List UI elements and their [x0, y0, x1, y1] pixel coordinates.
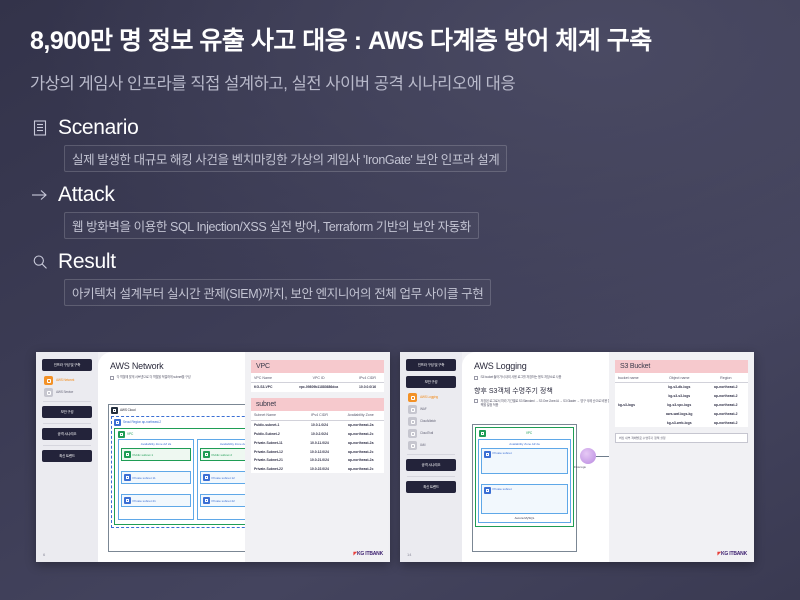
private-subnet: Private subnet 11	[121, 471, 191, 484]
section-result: Result 아키텍처 설계부터 실시간 관제(SIEM)까지, 보안 엔지니어…	[30, 250, 770, 306]
vpc-icon	[479, 430, 486, 437]
aws-cloud-icon	[111, 407, 118, 414]
section-attack-title: Attack	[58, 183, 115, 207]
slide-1-tables: VPC VPC Name VPC ID IPv4 CIDR KG-S3-VPC …	[245, 352, 390, 562]
table-row: Private-Subnet-22 10.0.22.0/24 ap-northe…	[251, 465, 384, 474]
flow-logs-icon	[580, 448, 596, 464]
sidebar-item-iam[interactable]: IAM	[408, 441, 456, 450]
sidebar-item-label: AWS Network	[56, 378, 74, 382]
section-list: Scenario 실제 발생한 대규모 해킹 사건을 벤치마킹한 가상의 게임사…	[0, 116, 800, 306]
private-subnet: Private subnet	[481, 484, 568, 514]
table-header-row: VPC Name VPC ID IPv4 CIDR	[251, 373, 384, 383]
section-attack: Attack 웹 방화벽을 이용한 SQL Injection/XSS 실전 방…	[30, 183, 770, 239]
table-row: kg-s3-logs kg-s3-vpc-logs ap-northeast-2	[615, 401, 748, 410]
arrow-right-icon	[30, 186, 49, 205]
table-row: kg-s3-s3-logs ap-northeast-2	[615, 392, 748, 401]
kg-itbank-logo: ◤KG ITBANK	[353, 551, 383, 557]
sidebar-item-cloudtrail[interactable]: CloudTrail	[408, 429, 456, 438]
bullet-icon	[474, 399, 478, 403]
table-row: KG-S3-VPC vpc-09809b11883686dca 10.0.0.0…	[251, 383, 384, 392]
vpc-icon	[118, 431, 125, 438]
flow-logs-label: Flow logs	[574, 465, 586, 469]
slide-thumbnail-aws-network[interactable]: 인프라 구성 및 구축 AWS Network AWS Service 보안 구…	[36, 352, 390, 562]
section-attack-header: Attack	[30, 183, 770, 207]
availability-zone-2a: Availability Zone AZ 2a Public subnet 1 …	[118, 439, 194, 520]
page-header: 8,900만 명 정보 유출 사고 대응 : AWS 다계층 방어 체계 구축 …	[0, 0, 800, 94]
subnet-icon	[203, 474, 210, 481]
logging-architecture-diagram: VPC Availability Zone AZ 2a Private subn…	[472, 424, 577, 552]
page-title: 8,900만 명 정보 유출 사고 대응 : AWS 다계층 방어 체계 구축	[30, 26, 770, 57]
sidebar-item-cloudwatch[interactable]: CloudWatch	[408, 417, 456, 426]
subnet-icon	[203, 497, 210, 504]
slide-1-sidebar: 인프라 구성 및 구축 AWS Network AWS Service 보안 구…	[36, 352, 98, 562]
table-row: Private-Subnet-21 10.0.21.0/24 ap-northe…	[251, 456, 384, 465]
sidebar-divider	[407, 476, 455, 477]
subnet-icon	[484, 451, 491, 458]
aurora-mysql-label: Aurora MySQL	[481, 516, 568, 520]
sidebar-heading[interactable]: 인프라 구성 및 구축	[406, 359, 456, 371]
private-subnet: Private subnet	[481, 448, 568, 474]
vpc-label: VPC	[477, 428, 572, 438]
sidebar-item-label: AWS Service	[56, 390, 73, 394]
s3-bucket-table-heading: S3 Bucket	[615, 360, 748, 373]
section-scenario-desc: 실제 발생한 대규모 해킹 사건을 벤치마킹한 가상의 게임사 'IronGat…	[64, 145, 507, 172]
table-row: kg-s3-db-logs ap-northeast-2	[615, 383, 748, 392]
iam-icon	[408, 441, 417, 450]
service-icon	[44, 388, 53, 397]
public-subnet: Public subnet 1	[121, 448, 191, 461]
sidebar-group-security[interactable]: 보안 구성	[42, 406, 92, 418]
slide-2-body: AWS Logging S3 bucket 들어가서 내외 사용 로그를 저장하…	[462, 352, 754, 562]
sidebar-item-label: CloudTrail	[420, 431, 433, 435]
private-subnet: Private subnet 21	[121, 494, 191, 507]
subnet-table: subnet Subnet Name IPv4 CIDR Availabilit…	[251, 398, 384, 474]
sidebar-item-waf[interactable]: WAF	[408, 405, 456, 414]
sidebar-divider	[43, 445, 91, 446]
subnet-icon	[124, 451, 131, 458]
subnet-icon	[124, 497, 131, 504]
slide-2-tables: S3 Bucket bucket name Object name Region…	[609, 352, 754, 562]
sidebar-divider	[43, 423, 91, 424]
slide-page-number: 6	[43, 552, 45, 557]
section-scenario-title: Scenario	[58, 116, 138, 140]
vpc-table-heading: VPC	[251, 360, 384, 373]
sidebar-divider	[407, 454, 455, 455]
sidebar-group-attack-scenario[interactable]: 공격 시나리오	[42, 428, 92, 440]
slide-2-sidebar: 인프라 구성 및 구축 보안 구성 AWS Logging WAF CloudW…	[400, 352, 462, 562]
search-icon	[30, 253, 49, 272]
sidebar-item-aws-network[interactable]: AWS Network	[44, 376, 92, 385]
section-attack-desc: 웹 방화벽을 이용한 SQL Injection/XSS 실전 방어, Terr…	[64, 212, 479, 239]
sidebar-item-label: WAF	[420, 407, 427, 411]
region-icon	[114, 419, 121, 426]
sidebar-item-label: AWS Logging	[420, 395, 438, 399]
sidebar-item-label: IAM	[420, 443, 425, 447]
bullet-icon	[110, 376, 114, 380]
slide-thumbnail-aws-logging[interactable]: 인프라 구성 및 구축 보안 구성 AWS Logging WAF CloudW…	[400, 352, 754, 562]
section-result-desc: 아키텍처 설계부터 실시간 관제(SIEM)까지, 보안 엔지니어의 전체 업무…	[64, 279, 491, 306]
subnet-icon	[124, 474, 131, 481]
document-icon	[30, 119, 49, 138]
network-icon	[44, 376, 53, 385]
sidebar-group-trend[interactable]: 최신 트렌드	[42, 450, 92, 462]
sidebar-item-aws-service[interactable]: AWS Service	[44, 388, 92, 397]
section-scenario-header: Scenario	[30, 116, 770, 140]
logging-icon	[408, 393, 417, 402]
table-row: Public-Subnet-2 10.0.2.0/24 ap-northeast…	[251, 430, 384, 439]
bucket-lifecycle-note: 버킷 내부 객체별로 수명주기 정책 설정	[615, 433, 748, 443]
sidebar-heading[interactable]: 인프라 구성 및 구축	[42, 359, 92, 371]
section-result-header: Result	[30, 250, 770, 274]
page-subtitle: 가상의 게임사 인프라를 직접 설계하고, 실전 사이버 공격 시나리오에 대응	[30, 70, 770, 94]
section-scenario: Scenario 실제 발생한 대규모 해킹 사건을 벤치마킹한 가상의 게임사…	[30, 116, 770, 172]
table-row: aws-waf-logs-kg ap-northeast-2	[615, 409, 748, 418]
sidebar-item-aws-logging[interactable]: AWS Logging	[408, 393, 456, 402]
bullet-icon	[474, 376, 478, 380]
section-result-title: Result	[58, 250, 116, 274]
slide-page-number: 14	[407, 552, 411, 557]
sidebar-divider	[43, 401, 91, 402]
subnet-icon	[203, 451, 210, 458]
sidebar-group-attack-scenario[interactable]: 공격 시나리오	[406, 459, 456, 471]
vpc-table: VPC VPC Name VPC ID IPv4 CIDR KG-S3-VPC …	[251, 360, 384, 392]
waf-icon	[408, 405, 417, 414]
kg-itbank-logo: ◤KG ITBANK	[717, 551, 747, 557]
table-header-row: bucket name Object name Region	[615, 373, 748, 383]
subnet-icon	[484, 487, 491, 494]
subnet-table-heading: subnet	[251, 398, 384, 411]
slide-1-body: AWS Network 각 역할에 맞게 서브넷으로 각 역할을 적절하게 su…	[98, 352, 390, 562]
sidebar-item-label: CloudWatch	[420, 419, 436, 423]
table-row: Public-subnet-1 10.0.1.0/24 ap-northeast…	[251, 420, 384, 429]
table-row: Private-Subnet-12 10.0.12.0/24 ap-northe…	[251, 447, 384, 456]
cloudtrail-icon	[408, 429, 417, 438]
cloudwatch-icon	[408, 417, 417, 426]
table-row: kg-s3-web-logs ap-northeast-2	[615, 418, 748, 427]
table-header-row: Subnet Name IPv4 CIDR Availability Zone	[251, 411, 384, 421]
s3-bucket-table: S3 Bucket bucket name Object name Region…	[615, 360, 748, 427]
table-row: Private-Subnet-11 10.0.11.0/24 ap-northe…	[251, 438, 384, 447]
slide-thumbnail-row: 인프라 구성 및 구축 AWS Network AWS Service 보안 구…	[36, 352, 754, 562]
sidebar-group-security[interactable]: 보안 구성	[406, 376, 456, 388]
availability-zone-2a: Availability Zone AZ 2a Private subnet P…	[478, 439, 571, 523]
sidebar-group-trend[interactable]: 최신 트렌드	[406, 481, 456, 493]
